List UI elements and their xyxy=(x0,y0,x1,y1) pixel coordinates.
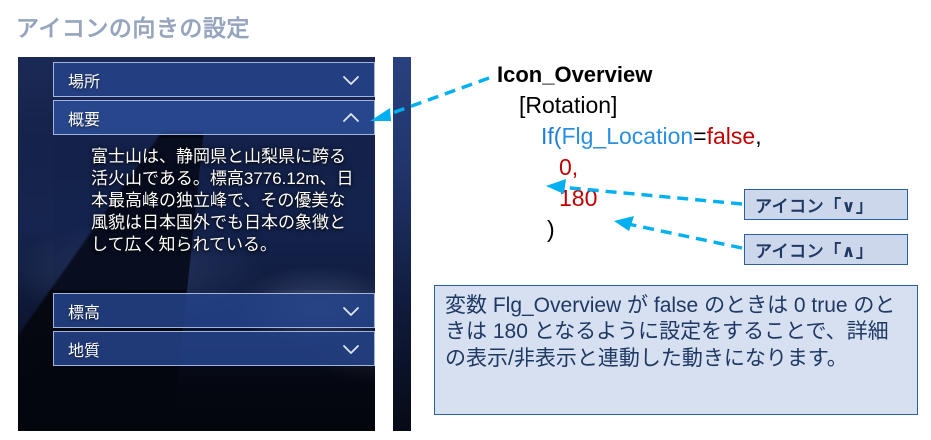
property-name-label: [Rotation] xyxy=(519,92,762,119)
note-box: 変数 Flg_Overview が false のときは 0 true のときは… xyxy=(434,285,918,415)
chevron-up-icon[interactable] xyxy=(340,107,362,129)
chevron-down-icon[interactable] xyxy=(340,69,362,91)
accordion-item-elevation[interactable]: 標高 xyxy=(53,293,375,328)
formula-line-close-paren: ) xyxy=(547,216,762,243)
formula-line-true-result: 180 xyxy=(559,185,762,212)
page-title: アイコンの向きの設定 xyxy=(16,9,250,43)
accordion-item-geology[interactable]: 地質 xyxy=(53,331,375,366)
accordion-item-label: 概要 xyxy=(68,106,340,130)
chevron-down-icon[interactable] xyxy=(340,338,362,360)
accordion-item-label: 標高 xyxy=(68,299,340,323)
formula-token-value: false xyxy=(707,123,756,149)
callout-icon-up: アイコン「∧」 xyxy=(744,234,908,265)
callout-icon-down: アイコン「∨」 xyxy=(744,189,908,220)
formula-token-variable: Flg_Location xyxy=(561,123,693,149)
formula-block: Icon_Overview [Rotation] If(Flg_Location… xyxy=(497,62,762,243)
scrollbar-track[interactable] xyxy=(380,59,390,427)
chevron-down-icon[interactable] xyxy=(340,300,362,322)
panel-right-edge xyxy=(411,57,418,431)
app-screenshot-panel: 場所 概要 富士山は、静岡県と山梨県に跨る活火山である。標高3776.12m、日… xyxy=(18,57,418,431)
formula-line-if: If(Flg_Location=false, xyxy=(541,123,762,150)
accordion-item-label: 地質 xyxy=(68,337,340,361)
accordion-item-label: 場所 xyxy=(68,68,340,92)
formula-token-comma: , xyxy=(755,123,761,149)
accordion-item-place[interactable]: 場所 xyxy=(53,62,375,97)
accordion-list: 場所 概要 富士山は、静岡県と山梨県に跨る活火山である。標高3776.12m、日… xyxy=(53,62,375,369)
accordion-item-overview[interactable]: 概要 xyxy=(53,100,375,135)
panel-right-strip xyxy=(393,57,411,431)
formula-token-fn: If( xyxy=(541,123,561,149)
accordion-detail-text: 富士山は、静岡県と山梨県に跨る活火山である。標高3776.12m、日本最高峰の独… xyxy=(53,138,375,290)
control-name-label: Icon_Overview xyxy=(497,62,762,88)
formula-line-false-result: 0, xyxy=(559,154,762,181)
formula-token-operator: = xyxy=(693,123,706,149)
